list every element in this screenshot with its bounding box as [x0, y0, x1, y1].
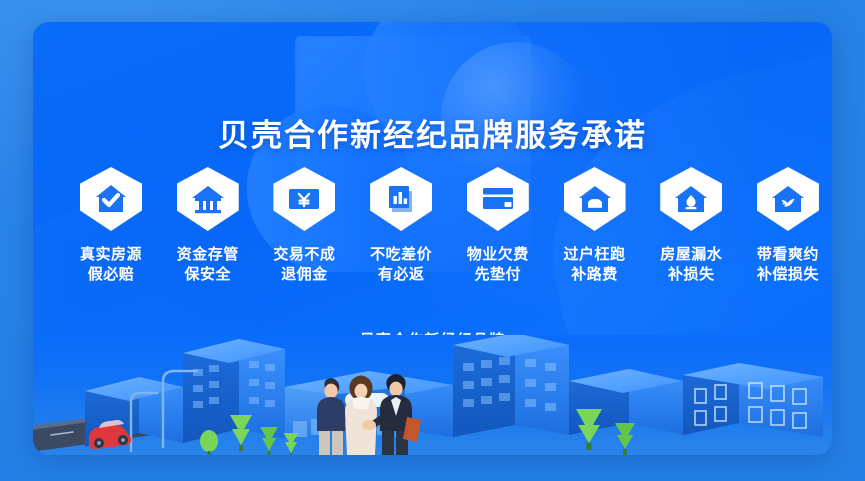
- promise-line1: 过户枉跑: [564, 245, 626, 263]
- promise-item-1: 真实房源 假必赔: [67, 167, 155, 285]
- building-right-1: [453, 335, 569, 437]
- promise-line1: 带看爽约: [757, 245, 819, 263]
- promise-line1: 不吃差价: [370, 245, 432, 263]
- house-car-icon: [564, 167, 626, 231]
- promise-line2: 先垫付: [475, 265, 522, 283]
- yuan-bill-icon: [273, 167, 335, 231]
- promise-label-2: 资金存管 保安全: [177, 245, 239, 285]
- promise-item-5: 物业欠费 先垫付: [454, 167, 542, 285]
- promise-line1: 资金存管: [177, 245, 239, 263]
- promise-card: 贝壳合作新经纪品牌服务承诺 真实房源 假必赔: [33, 22, 832, 455]
- promise-list: 真实房源 假必赔 资金存管 保安全: [67, 167, 832, 285]
- page-title: 贝壳合作新经纪品牌服务承诺: [33, 110, 832, 155]
- promise-item-4: 不吃差价 有必返: [357, 167, 445, 285]
- promise-line2: 保安全: [184, 265, 231, 283]
- bank-pillars-icon: [177, 167, 239, 231]
- promise-item-7: 房屋漏水 补损失: [647, 167, 735, 285]
- promise-label-6: 过户枉跑 补路费: [564, 245, 626, 285]
- bar-chart-doc-icon: [370, 167, 432, 231]
- promise-label-4: 不吃差价 有必返: [370, 245, 432, 285]
- promise-line1: 真实房源: [80, 245, 142, 263]
- promise-item-2: 资金存管 保安全: [164, 167, 252, 285]
- promise-line2: 补偿损失: [757, 265, 819, 283]
- promise-line2: 补路费: [571, 265, 618, 283]
- credit-card-icon: [467, 167, 529, 231]
- promise-line1: 交易不成: [273, 245, 335, 263]
- promise-line2: 补损失: [668, 265, 715, 283]
- house-droplet-icon: [660, 167, 722, 231]
- promise-line1: 房屋漏水: [660, 245, 722, 263]
- promise-item-8: 带看爽约 补偿损失: [744, 167, 832, 285]
- promise-item-3: 交易不成 退佣金: [260, 167, 348, 285]
- building-right-3: [683, 363, 823, 437]
- person-center: [345, 376, 377, 456]
- house-check-icon: [80, 167, 142, 231]
- promise-label-3: 交易不成 退佣金: [273, 245, 335, 285]
- promise-line2: 退佣金: [281, 265, 328, 283]
- promise-line2: 有必返: [378, 265, 425, 283]
- promise-label-1: 真实房源 假必赔: [80, 245, 142, 285]
- city-svg: ●: [33, 335, 832, 455]
- house-bird-icon: [757, 167, 819, 231]
- poster-stage: 贝壳合作新经纪品牌服务承诺 真实房源 假必赔: [0, 0, 865, 481]
- promise-label-8: 带看爽约 补偿损失: [757, 245, 819, 285]
- promise-label-7: 房屋漏水 补损失: [660, 245, 722, 285]
- promise-line2: 假必赔: [88, 265, 135, 283]
- promise-line1: 物业欠费: [467, 245, 529, 263]
- promise-item-6: 过户枉跑 补路费: [551, 167, 639, 285]
- heart-lobe-right: [329, 22, 564, 188]
- isometric-city-scene: ●: [33, 335, 832, 455]
- promise-label-5: 物业欠费 先垫付: [467, 245, 529, 285]
